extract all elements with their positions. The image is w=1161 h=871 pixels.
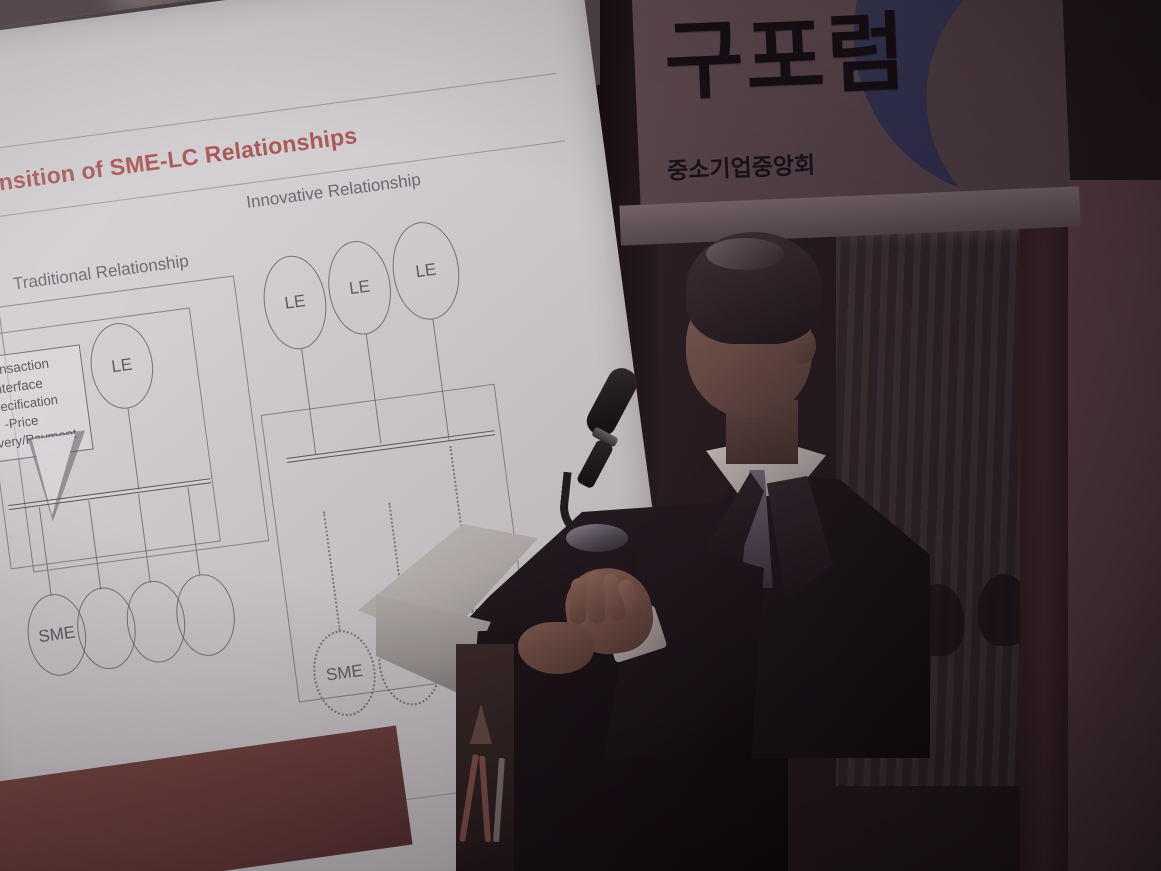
podium-emblem-icon (470, 704, 492, 744)
presenter (614, 232, 934, 752)
innovative-le-node: LE (387, 218, 465, 324)
innovative-le-node: LE (258, 252, 332, 353)
callout-tail (28, 430, 97, 523)
podium-emblem-stroke (459, 754, 479, 842)
traditional-sme-node (171, 571, 239, 660)
banner-subtitle: 중소기업중앙회 (666, 146, 815, 186)
presenter-hair-highlight (706, 238, 784, 270)
podium-emblem-panel (456, 644, 514, 871)
wall-pillar (1020, 150, 1070, 871)
banner-title: 구포럼 (662, 0, 910, 117)
photo-scene: 구포럼 중소기업중앙회 Transition of SME-LC Relatio… (0, 0, 1161, 871)
wall-panel (1068, 180, 1161, 871)
presenter-hand-lower (518, 622, 594, 674)
innovative-le-node: LE (323, 237, 397, 338)
microphone-base (566, 524, 628, 552)
podium-emblem-stroke (479, 756, 491, 842)
podium-emblem-stroke (493, 758, 505, 842)
presenter-finger (570, 578, 588, 625)
innovative-relationship-label: Innovative Relationship (245, 170, 422, 213)
